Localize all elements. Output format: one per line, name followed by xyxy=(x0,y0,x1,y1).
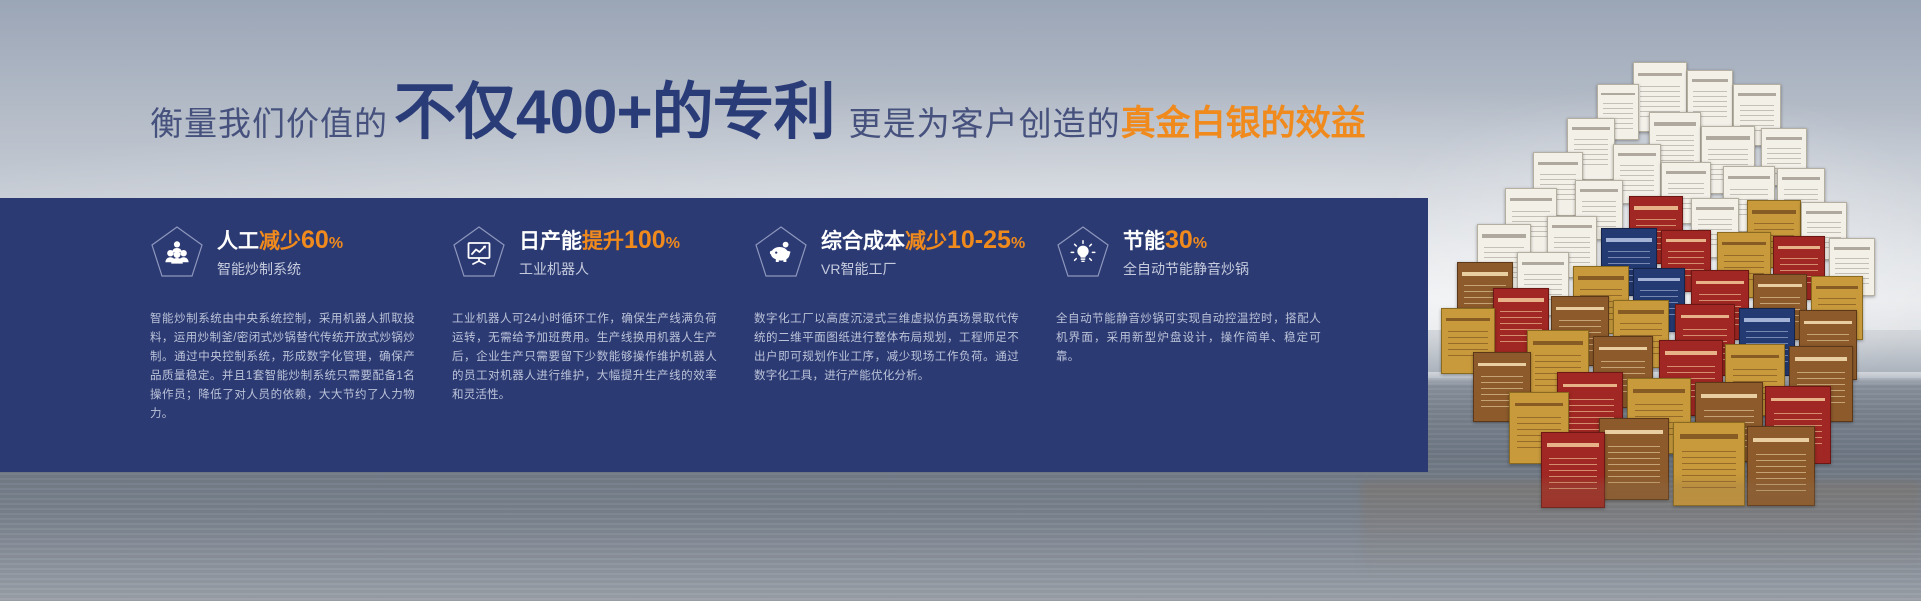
feature-card-header: 人工减少60%智能炒制系统 xyxy=(150,222,415,284)
headline-accent: 真金白银的效益 xyxy=(1121,106,1366,144)
feature-icon-frame xyxy=(1056,225,1110,281)
feature-card-header: 节能30%全自动节能静音炒锅 xyxy=(1056,222,1321,284)
banner-stage: 衡量我们价值的 不仅400+的专利 更是为客户创造的 真金白银的效益 人工减少6… xyxy=(0,0,1921,601)
metric-unit: % xyxy=(666,235,680,252)
feature-card: 节能30%全自动节能静音炒锅全自动节能静音炒锅可实现自动控温控时，搭配人机界面，… xyxy=(1056,198,1321,472)
metric-prefix: 日产能 xyxy=(519,230,582,253)
metric-number: 100 xyxy=(624,226,666,254)
feature-card-subtitle: VR智能工厂 xyxy=(821,258,1025,280)
feature-card: 人工减少60%智能炒制系统智能炒制系统由中央系统控制，采用机器人抓取投料，运用炒… xyxy=(150,198,415,472)
feature-card-body: 工业机器人可24小时循环工作，确保生产线满负荷运转，无需给予加班费用。生产线换用… xyxy=(452,310,717,405)
certificate-reflection xyxy=(1361,481,1921,601)
feature-card-metric: 人工减少60% xyxy=(217,227,343,257)
feature-card-body: 智能炒制系统由中央系统控制，采用机器人抓取投料，运用炒制釜/密闭式炒锅替代传统开… xyxy=(150,310,415,424)
page-title: 衡量我们价值的 不仅400+的专利 更是为客户创造的 真金白银的效益 xyxy=(150,78,1366,144)
feature-card-subtitle: 智能炒制系统 xyxy=(217,258,343,280)
metric-action: 提升 xyxy=(582,230,624,253)
metric-unit: % xyxy=(1011,235,1025,252)
feature-icon-frame xyxy=(754,225,808,281)
feature-card-body: 数字化工厂以高度沉浸式三维虚拟仿真场景取代传统的二维平面图纸进行整体布局规划，工… xyxy=(754,310,1019,386)
lightbulb-icon xyxy=(1070,240,1096,266)
feature-card-metric: 日产能提升100% xyxy=(519,227,680,257)
metric-unit: % xyxy=(329,235,343,252)
metric-action: 减少 xyxy=(905,230,947,253)
feature-icon-frame xyxy=(150,225,204,281)
metric-number: 30 xyxy=(1165,226,1193,254)
feature-card-header: 综合成本减少10-25%VR智能工厂 xyxy=(754,222,1019,284)
people-group-icon xyxy=(164,240,190,266)
lightbulb-icon xyxy=(1070,240,1096,266)
headline-strong: 不仅400+的专利 xyxy=(388,82,841,144)
metric-prefix: 节能 xyxy=(1123,230,1165,253)
feature-icon-frame xyxy=(452,225,506,281)
feature-card-list: 人工减少60%智能炒制系统智能炒制系统由中央系统控制，采用机器人抓取投料，运用炒… xyxy=(150,198,1400,472)
piggy-bank-icon xyxy=(768,240,794,266)
feature-card-metric: 节能30% xyxy=(1123,227,1249,257)
headline-mid: 更是为客户创造的 xyxy=(841,107,1121,144)
feature-card-subtitle: 工业机器人 xyxy=(519,258,680,280)
metric-action: 减少 xyxy=(259,230,301,253)
feature-card: 综合成本减少10-25%VR智能工厂数字化工厂以高度沉浸式三维虚拟仿真场景取代传… xyxy=(754,198,1019,472)
people-group-icon xyxy=(164,240,190,266)
feature-card-titles: 日产能提升100%工业机器人 xyxy=(519,227,680,280)
feature-card: 日产能提升100%工业机器人工业机器人可24小时循环工作，确保生产线满负荷运转，… xyxy=(452,198,717,472)
feature-card-metric: 综合成本减少10-25% xyxy=(821,227,1025,257)
feature-card-titles: 综合成本减少10-25%VR智能工厂 xyxy=(821,227,1025,280)
feature-card-subtitle: 全自动节能静音炒锅 xyxy=(1123,258,1249,280)
chart-board-icon xyxy=(466,240,492,266)
piggy-bank-icon xyxy=(768,240,794,266)
metric-unit: % xyxy=(1193,235,1207,252)
feature-card-body: 全自动节能静音炒锅可实现自动控温控时，搭配人机界面，采用新型炉盘设计，操作简单、… xyxy=(1056,310,1321,367)
feature-card-header: 日产能提升100%工业机器人 xyxy=(452,222,717,284)
metric-prefix: 人工 xyxy=(217,230,259,253)
metric-number: 10-25 xyxy=(947,226,1011,254)
headline-lead: 衡量我们价值的 xyxy=(150,107,388,144)
feature-card-titles: 节能30%全自动节能静音炒锅 xyxy=(1123,227,1249,280)
metric-prefix: 综合成本 xyxy=(821,230,905,253)
feature-panel: 人工减少60%智能炒制系统智能炒制系统由中央系统控制，采用机器人抓取投料，运用炒… xyxy=(0,198,1428,472)
metric-number: 60 xyxy=(301,226,329,254)
feature-card-titles: 人工减少60%智能炒制系统 xyxy=(217,227,343,280)
chart-board-icon xyxy=(466,240,492,266)
